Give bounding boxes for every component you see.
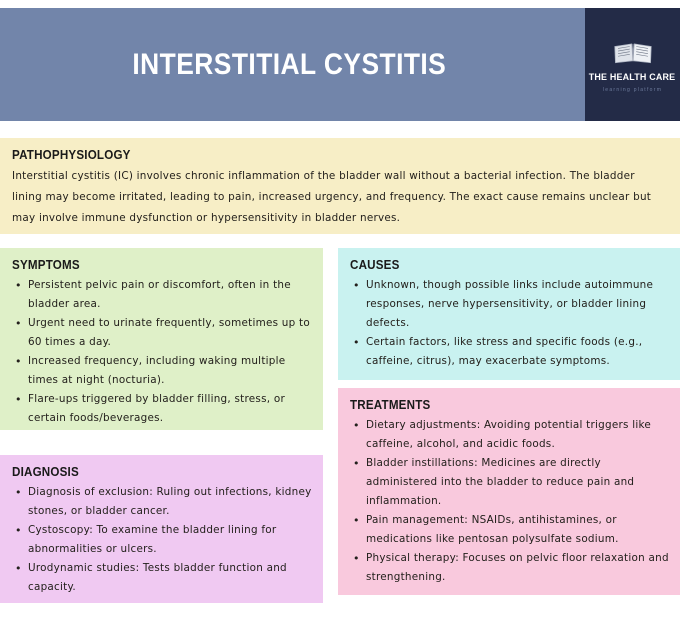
list-item: Certain factors, like stress and specifi… bbox=[350, 333, 670, 371]
page-title: INTERSTITIAL CYSTITIS bbox=[133, 48, 447, 82]
diagnosis-list: Diagnosis of exclusion: Ruling out infec… bbox=[12, 483, 313, 597]
brand-tagline: learning platform bbox=[603, 87, 662, 93]
list-item: Persistent pelvic pain or discomfort, of… bbox=[12, 276, 313, 314]
list-item: Dietary adjustments: Avoiding potential … bbox=[350, 416, 670, 454]
pathophysiology-paragraph: Interstitial cystitis (IC) involves chro… bbox=[12, 166, 666, 229]
section-pathophysiology: PATHOPHYSIOLOGY Interstitial cystitis (I… bbox=[0, 138, 680, 234]
list-item: Urgent need to urinate frequently, somet… bbox=[12, 314, 313, 352]
list-item: Urodynamic studies: Tests bladder functi… bbox=[12, 559, 313, 597]
infographic-poster: INTERSTITIAL CYSTITIS THE HEALTH CARE le… bbox=[0, 0, 680, 620]
list-item: Cystoscopy: To examine the bladder linin… bbox=[12, 521, 313, 559]
header-title-container: INTERSTITIAL CYSTITIS bbox=[0, 8, 585, 121]
list-item: Diagnosis of exclusion: Ruling out infec… bbox=[12, 483, 313, 521]
section-title-diagnosis: DIAGNOSIS bbox=[12, 465, 292, 479]
list-item: Unknown, though possible links include a… bbox=[350, 276, 670, 333]
list-item: Bladder instillations: Medicines are dir… bbox=[350, 454, 670, 511]
section-title-symptoms: SYMPTOMS bbox=[12, 258, 292, 272]
section-symptoms: SYMPTOMS Persistent pelvic pain or disco… bbox=[0, 248, 323, 430]
list-item: Pain management: NSAIDs, antihistamines,… bbox=[350, 511, 670, 549]
section-title-pathophysiology: PATHOPHYSIOLOGY bbox=[12, 148, 620, 162]
list-item: Flare-ups triggered by bladder filling, … bbox=[12, 390, 313, 428]
poster-header: INTERSTITIAL CYSTITIS THE HEALTH CARE le… bbox=[0, 8, 680, 121]
section-causes: CAUSES Unknown, though possible links in… bbox=[338, 248, 680, 380]
brand-name: THE HEALTH CARE bbox=[589, 72, 676, 83]
list-item: Increased frequency, including waking mu… bbox=[12, 352, 313, 390]
treatments-list: Dietary adjustments: Avoiding potential … bbox=[350, 416, 670, 587]
section-diagnosis: DIAGNOSIS Diagnosis of exclusion: Ruling… bbox=[0, 455, 323, 603]
causes-list: Unknown, though possible links include a… bbox=[350, 276, 670, 371]
section-title-treatments: TREATMENTS bbox=[350, 398, 648, 412]
section-title-causes: CAUSES bbox=[350, 258, 648, 272]
list-item: Physical therapy: Focuses on pelvic floo… bbox=[350, 549, 670, 587]
section-treatments: TREATMENTS Dietary adjustments: Avoiding… bbox=[338, 388, 680, 595]
brand-logo-panel: THE HEALTH CARE learning platform bbox=[585, 8, 680, 121]
open-book-icon bbox=[612, 40, 654, 66]
symptoms-list: Persistent pelvic pain or discomfort, of… bbox=[12, 276, 313, 428]
